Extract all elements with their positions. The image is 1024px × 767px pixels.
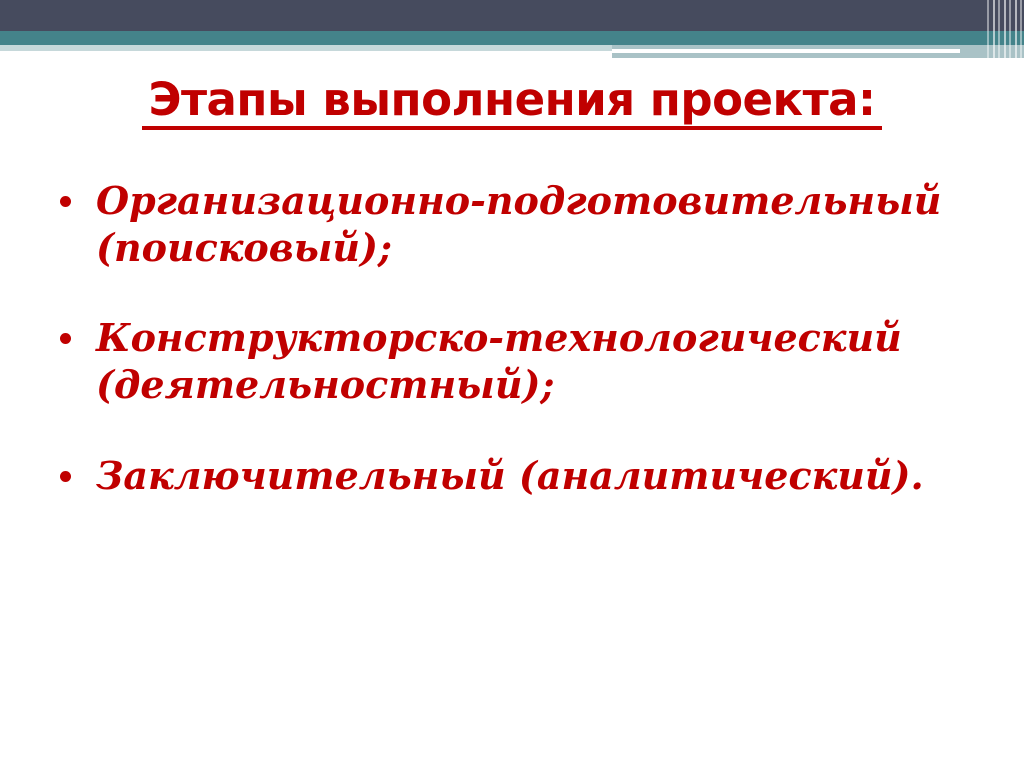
list-item-label: Организационно-подготовительный (поисков… (96, 178, 1004, 271)
slide-title-container: Этапы выполнения проекта: (0, 46, 1024, 161)
bullet-dot-icon (60, 333, 71, 344)
list-item: Заключительный (аналитический). (44, 453, 1004, 500)
presentation-slide: Этапы выполнения проекта: Организационно… (0, 0, 1024, 767)
page-title: Этапы выполнения проекта: (142, 76, 881, 130)
list-item: Конструкторско-технологический (деятельн… (44, 315, 1004, 408)
bullet-dot-icon (60, 196, 71, 207)
slide-body: Организационно-подготовительный (поисков… (44, 178, 1004, 500)
header-band-navy (0, 0, 1024, 31)
bullet-dot-icon (60, 471, 71, 482)
header-band-teal (0, 31, 1024, 45)
bullet-list: Организационно-подготовительный (поисков… (44, 178, 1004, 500)
list-item: Организационно-подготовительный (поисков… (44, 178, 1004, 271)
list-item-label: Конструкторско-технологический (деятельн… (96, 315, 1004, 408)
list-item-label: Заключительный (аналитический). (96, 453, 1004, 500)
